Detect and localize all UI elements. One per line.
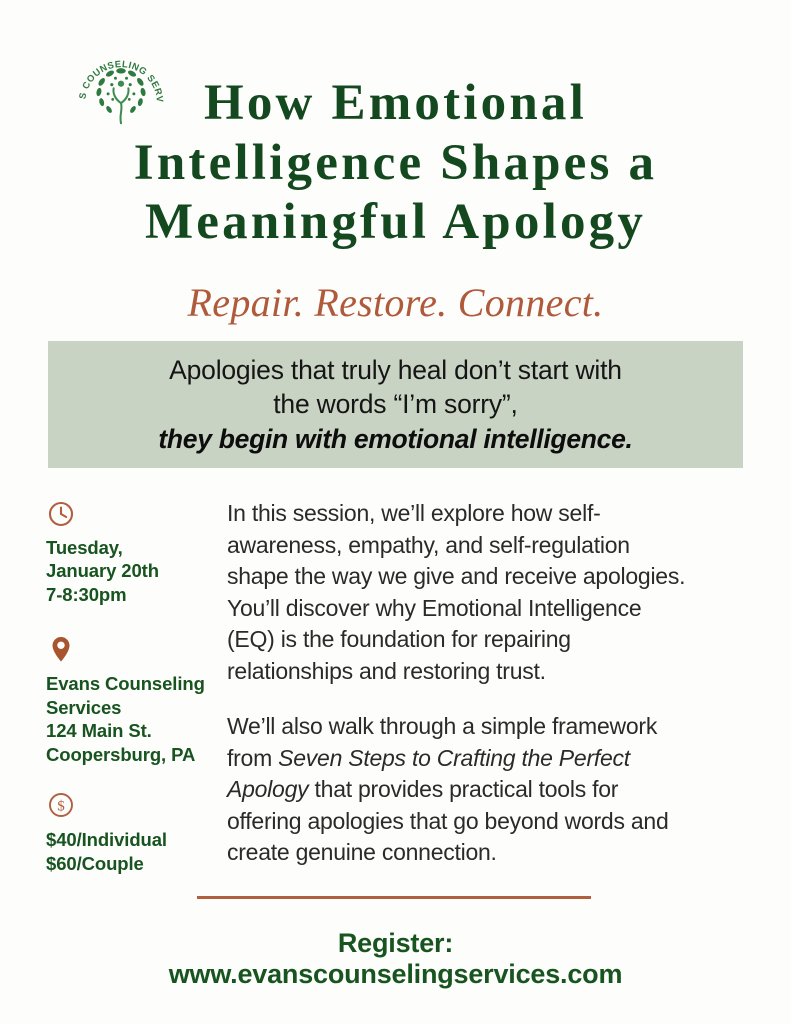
detail-price: $ $40/Individual $60/Couple: [46, 790, 215, 875]
register-label: Register:: [0, 928, 791, 959]
description-paragraph-1: In this session, we’ll explore how self-…: [227, 498, 695, 687]
detail-time-text: Tuesday, January 20th 7-8:30pm: [46, 536, 215, 606]
footer-divider: [197, 896, 591, 899]
event-flyer: EVANS COUNSELING SERVICES: [0, 0, 791, 1024]
details-column: Tuesday, January 20th 7-8:30pm Evans Cou…: [0, 498, 215, 881]
quote-box: Apologies that truly heal don’t start wi…: [48, 341, 743, 468]
detail-time: Tuesday, January 20th 7-8:30pm: [46, 498, 215, 606]
flyer-footer: Register: www.evanscounselingservices.co…: [0, 928, 791, 991]
detail-location-text: Evans Counseling Services 124 Main St. C…: [46, 672, 215, 766]
svg-text:EVANS COUNSELING SERVICES: EVANS COUNSELING SERVICES: [75, 46, 165, 103]
page-subtitle: Repair. Restore. Connect.: [58, 253, 733, 326]
description-paragraph-2: We’ll also walk through a simple framewo…: [227, 711, 695, 869]
dollar-coin-icon: $: [46, 790, 76, 820]
quote-line-1: Apologies that truly heal don’t start wi…: [169, 353, 622, 387]
website-link[interactable]: www.evanscounselingservices.com: [0, 959, 791, 990]
clock-icon: [46, 498, 76, 528]
flyer-header: EVANS COUNSELING SERVICES: [0, 0, 791, 326]
description-column: In this session, we’ll explore how self-…: [215, 498, 735, 893]
map-pin-icon: [46, 634, 76, 664]
content-columns: Tuesday, January 20th 7-8:30pm Evans Cou…: [0, 498, 791, 893]
detail-price-text: $40/Individual $60/Couple: [46, 828, 215, 875]
quote-line-2: the words “I’m sorry”,: [273, 387, 517, 421]
tree-person-logo: EVANS COUNSELING SERVICES: [75, 46, 167, 138]
svg-text:$: $: [57, 799, 65, 815]
quote-emphasis: they begin with emotional intelligence.: [158, 422, 632, 456]
logo-arc-text: EVANS COUNSELING SERVICES: [75, 46, 165, 103]
detail-location: Evans Counseling Services 124 Main St. C…: [46, 634, 215, 766]
